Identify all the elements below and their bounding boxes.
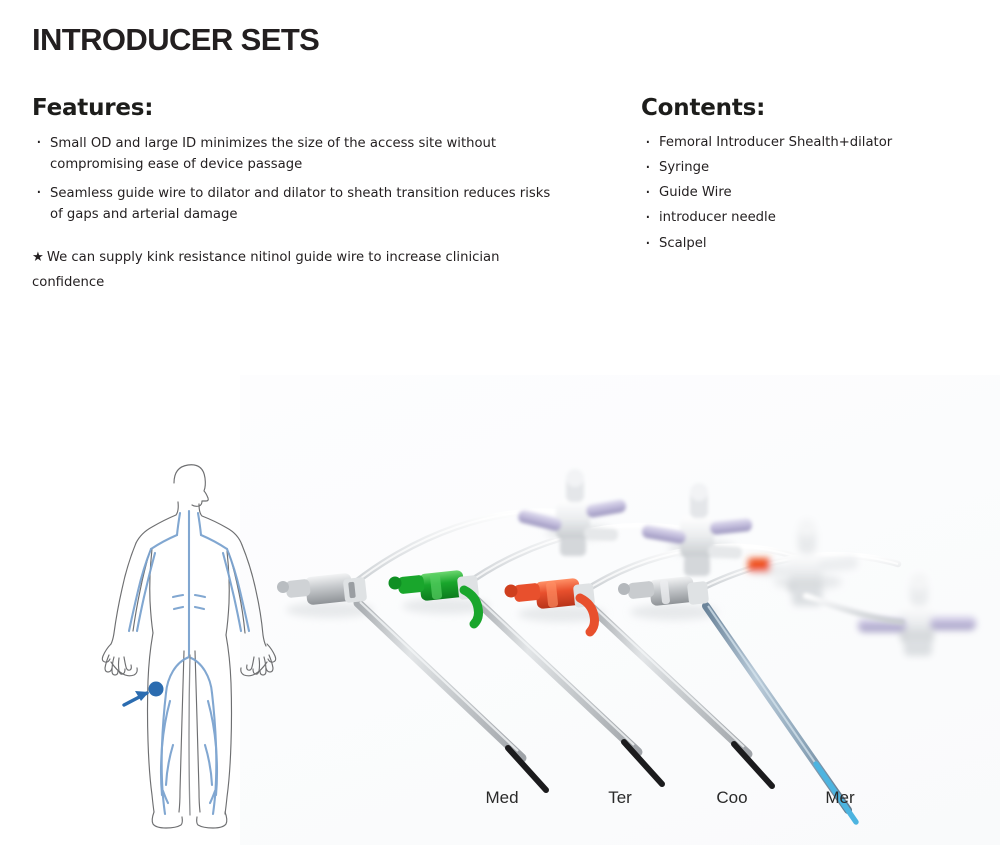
contents-section: Contents: Femoral Introducer Shealth+dil… (641, 95, 971, 259)
contents-list: Femoral Introducer Shealth+dilator Syrin… (641, 133, 971, 253)
list-item: introducer needle (641, 208, 971, 227)
product-caption-ter: Ter (608, 788, 632, 808)
features-list: Small OD and large ID minimizes the size… (32, 133, 562, 226)
femoral-access-marker-dot (149, 682, 164, 697)
access-site-arrow-icon (124, 691, 149, 705)
introducer-sets-product-photo (250, 440, 990, 840)
list-item: Seamless guide wire to dilator and dilat… (32, 183, 562, 226)
hub-assembly (277, 573, 367, 606)
side-arm-tube-extension (806, 596, 902, 622)
hub-assembly (505, 578, 596, 632)
list-item: Syringe (641, 158, 971, 177)
product-caption-mer: Mer (825, 788, 854, 808)
three-way-stopcock-2 (641, 483, 752, 576)
product-caption-coo: Coo (716, 788, 747, 808)
features-note: ★We can supply kink resistance nitinol g… (32, 245, 542, 296)
features-section: Features: Small OD and large ID minimize… (32, 95, 562, 296)
hub-assembly (618, 576, 709, 606)
star-icon: ★ (32, 250, 44, 265)
hub-assembly (389, 570, 480, 624)
sheath-tip (624, 742, 662, 784)
list-item: Guide Wire (641, 183, 971, 202)
sheath-shaft (358, 603, 522, 758)
contents-heading: Contents: (641, 95, 971, 121)
sheath-tip (508, 748, 546, 790)
page-title: INTRODUCER SETS (32, 22, 319, 58)
list-item: Scalpel (641, 234, 971, 253)
list-item: Femoral Introducer Shealth+dilator (641, 133, 971, 152)
three-way-stopcock-3 (748, 519, 859, 606)
three-way-stopcock-1 (517, 469, 627, 556)
list-item: Small OD and large ID minimizes the size… (32, 133, 562, 176)
orange-tube-clamp (748, 558, 770, 572)
product-caption-med: Med (485, 788, 518, 808)
features-note-text: We can supply kink resistance nitinol gu… (32, 250, 499, 291)
sheath-tip (734, 744, 772, 786)
illustration-area: Med Ter Coo Mer (0, 360, 1000, 853)
features-heading: Features: (32, 95, 562, 121)
